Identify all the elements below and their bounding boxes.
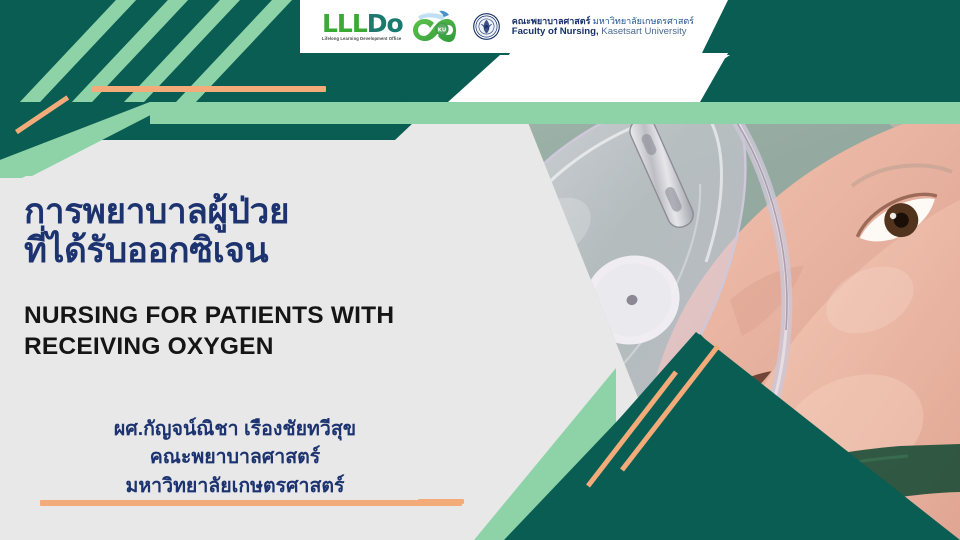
- faculty-name-thai: คณะพยาบาลศาสตร์ มหาวิทยาลัยเกษตรศาสตร์: [512, 16, 694, 26]
- ku-loop-badge-label: KU: [438, 27, 446, 33]
- slide-title-thai-line-1: การพยาบาลผู้ป่วย: [24, 192, 444, 231]
- slide-title-english-line-1: NURSING FOR PATIENTS WITH: [24, 300, 494, 331]
- lll-do-logo: LLLDo Lifelong Learning Development Offi…: [322, 12, 403, 42]
- faculty-of-nursing-lockup: คณะพยาบาลศาสตร์ มหาวิทยาลัยเกษตรศาสตร์ F…: [512, 16, 694, 37]
- lll-do-wordmark: LLLDo: [322, 12, 403, 36]
- lll-do-tagline: Lifelong Learning Development Office: [322, 37, 401, 41]
- author-name: ผศ.กัญจน์ณิชา เรืองชัยทวีสุข: [20, 415, 450, 443]
- author-block: ผศ.กัญจน์ณิชา เรืองชัยทวีสุข คณะพยาบาลศา…: [20, 415, 450, 500]
- slide-title-english: NURSING FOR PATIENTS WITH RECEIVING OXYG…: [24, 300, 494, 363]
- author-faculty: คณะพยาบาลศาสตร์: [20, 443, 450, 471]
- slide-title-thai: การพยาบาลผู้ป่วย ที่ได้รับออกซิเจน: [24, 192, 444, 270]
- oxygen-mask-photo: [400, 0, 960, 540]
- orange-accent-bar-bottom: [40, 500, 462, 506]
- infinity-loop-icon: KU: [412, 9, 456, 45]
- slide-title-thai-line-2: ที่ได้รับออกซิเจน: [24, 231, 444, 270]
- faculty-name-english: Faculty of Nursing, Kasetsart University: [512, 26, 694, 37]
- author-university: มหาวิทยาลัยเกษตรศาสตร์: [20, 472, 450, 500]
- orange-accent-diagonal-top: [15, 95, 69, 134]
- presentation-title-slide: LLLDo Lifelong Learning Development Offi…: [0, 0, 960, 540]
- logo-bar: LLLDo Lifelong Learning Development Offi…: [300, 0, 702, 53]
- kasetsart-university-seal-icon: [473, 13, 500, 40]
- orange-accent-bar-top: [92, 86, 326, 92]
- slide-title-english-line-2: RECEIVING OXYGEN: [24, 331, 494, 362]
